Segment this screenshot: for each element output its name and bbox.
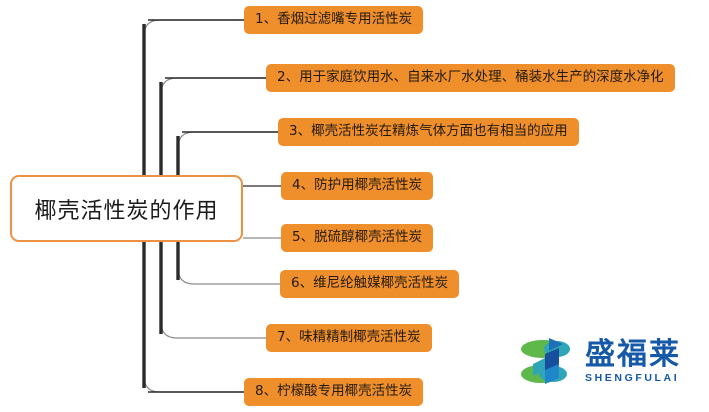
mindmap-canvas: 椰壳活性炭的作用 1、香烟过滤嘴专用活性炭 2、用于家庭饮用水、自来水厂水处理、… xyxy=(0,0,709,412)
branch-node-2-label: 2、用于家庭饮用水、自来水厂水处理、桶装水生产的深度水净化 xyxy=(277,71,664,85)
branch-node-7-label: 7、味精精制椰壳活性炭 xyxy=(277,331,421,345)
branch-node-4-label: 4、防护用椰壳活性炭 xyxy=(292,179,422,193)
logo-text-block: 盛福莱 SHENGFULAI xyxy=(585,340,681,384)
branch-node-8-label: 8、柠檬酸专用椰壳活性炭 xyxy=(255,385,412,399)
branch-node-3[interactable]: 3、椰壳活性炭在精炼气体方面也有相当的应用 xyxy=(278,118,579,146)
branch-node-3-label: 3、椰壳活性炭在精炼气体方面也有相当的应用 xyxy=(289,125,568,139)
branch-node-1-label: 1、香烟过滤嘴专用活性炭 xyxy=(255,13,412,27)
company-logo: 盛福莱 SHENGFULAI xyxy=(519,331,697,393)
root-node[interactable]: 椰壳活性炭的作用 xyxy=(10,175,243,242)
branch-node-2[interactable]: 2、用于家庭饮用水、自来水厂水处理、桶装水生产的深度水净化 xyxy=(266,64,675,92)
branch-node-4[interactable]: 4、防护用椰壳活性炭 xyxy=(281,172,433,200)
branch-node-6-label: 6、维尼纶触媒椰壳活性炭 xyxy=(291,277,448,291)
branch-node-5-label: 5、脱硫醇椰壳活性炭 xyxy=(292,231,422,245)
root-node-label: 椰壳活性炭的作用 xyxy=(34,193,218,225)
branch-node-8[interactable]: 8、柠檬酸专用椰壳活性炭 xyxy=(244,378,423,406)
branch-node-7[interactable]: 7、味精精制椰壳活性炭 xyxy=(266,324,432,352)
branch-node-5[interactable]: 5、脱硫醇椰壳活性炭 xyxy=(281,224,433,252)
branch-node-1[interactable]: 1、香烟过滤嘴专用活性炭 xyxy=(244,6,423,34)
logo-swirl-icon xyxy=(519,334,581,390)
logo-name-en: SHENGFULAI xyxy=(585,373,681,385)
branch-node-6[interactable]: 6、维尼纶触媒椰壳活性炭 xyxy=(280,270,459,298)
logo-name-cn: 盛福莱 xyxy=(585,340,681,371)
